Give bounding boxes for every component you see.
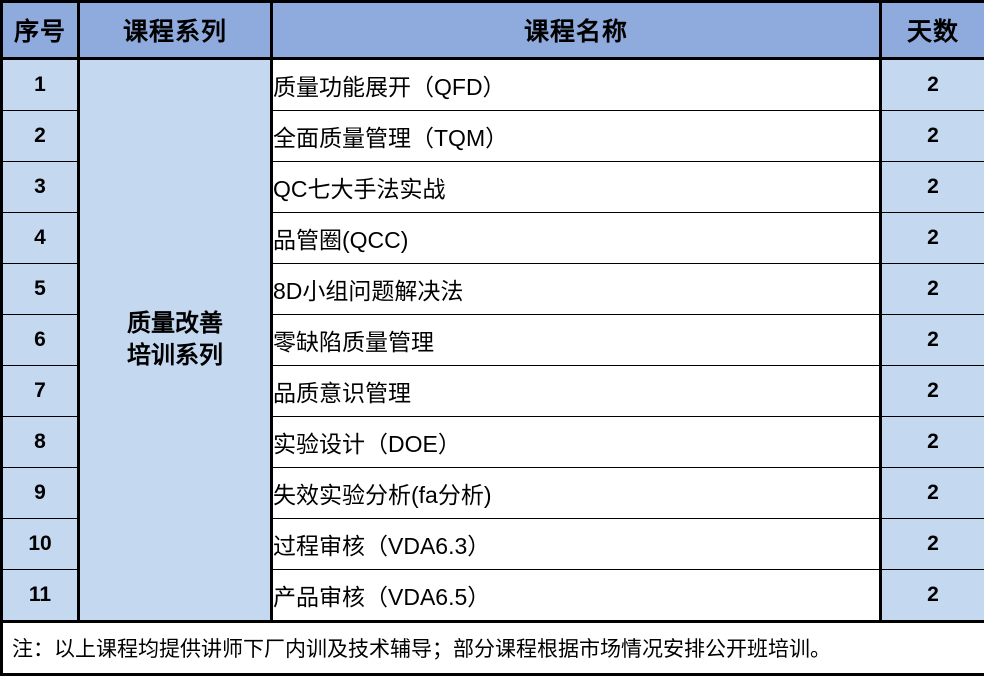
cell-index: 7 <box>2 366 79 417</box>
course-schedule-table: 序号 课程系列 课程名称 天数 1质量改善 培训系列质量功能展开（QFD）22全… <box>0 0 984 676</box>
cell-index: 4 <box>2 213 79 264</box>
cell-days: 2 <box>881 111 984 162</box>
cell-index: 9 <box>2 468 79 519</box>
table-footer: 注：以上课程均提供讲师下厂内训及技术辅导；部分课程根据市场情况安排公开班培训。 <box>2 622 984 675</box>
cell-index: 10 <box>2 519 79 570</box>
cell-days: 2 <box>881 570 984 622</box>
cell-course-name: 实验设计（DOE） <box>272 417 881 468</box>
cell-index: 2 <box>2 111 79 162</box>
cell-index: 1 <box>2 59 79 111</box>
column-header-name: 课程名称 <box>272 2 881 59</box>
table-header-row: 序号 课程系列 课程名称 天数 <box>2 2 984 59</box>
cell-days: 2 <box>881 366 984 417</box>
footnote-text: 注：以上课程均提供讲师下厂内训及技术辅导；部分课程根据市场情况安排公开班培训。 <box>2 622 984 675</box>
cell-days: 2 <box>881 59 984 111</box>
column-header-days: 天数 <box>881 2 984 59</box>
course-table-container: 序号 课程系列 课程名称 天数 1质量改善 培训系列质量功能展开（QFD）22全… <box>0 0 984 661</box>
footnote-row: 注：以上课程均提供讲师下厂内训及技术辅导；部分课程根据市场情况安排公开班培训。 <box>2 622 984 675</box>
cell-course-series: 质量改善 培训系列 <box>79 59 272 622</box>
cell-index: 5 <box>2 264 79 315</box>
table-row: 1质量改善 培训系列质量功能展开（QFD）2 <box>2 59 984 111</box>
cell-days: 2 <box>881 519 984 570</box>
cell-index: 6 <box>2 315 79 366</box>
cell-index: 11 <box>2 570 79 622</box>
cell-course-name: 产品审核（VDA6.5） <box>272 570 881 622</box>
cell-days: 2 <box>881 264 984 315</box>
cell-course-name: 失效实验分析(fa分析) <box>272 468 881 519</box>
cell-course-name: 8D小组问题解决法 <box>272 264 881 315</box>
cell-course-name: 品质意识管理 <box>272 366 881 417</box>
cell-course-name: 质量功能展开（QFD） <box>272 59 881 111</box>
cell-days: 2 <box>881 315 984 366</box>
cell-index: 3 <box>2 162 79 213</box>
cell-course-name: 零缺陷质量管理 <box>272 315 881 366</box>
cell-days: 2 <box>881 213 984 264</box>
column-header-index: 序号 <box>2 2 79 59</box>
cell-course-name: 品管圈(QCC) <box>272 213 881 264</box>
cell-course-name: QC七大手法实战 <box>272 162 881 213</box>
cell-course-name: 过程审核（VDA6.3） <box>272 519 881 570</box>
cell-days: 2 <box>881 417 984 468</box>
cell-index: 8 <box>2 417 79 468</box>
table-header: 序号 课程系列 课程名称 天数 <box>2 2 984 59</box>
column-header-series: 课程系列 <box>79 2 272 59</box>
cell-days: 2 <box>881 162 984 213</box>
table-body: 1质量改善 培训系列质量功能展开（QFD）22全面质量管理（TQM）23QC七大… <box>2 59 984 622</box>
cell-days: 2 <box>881 468 984 519</box>
cell-course-name: 全面质量管理（TQM） <box>272 111 881 162</box>
